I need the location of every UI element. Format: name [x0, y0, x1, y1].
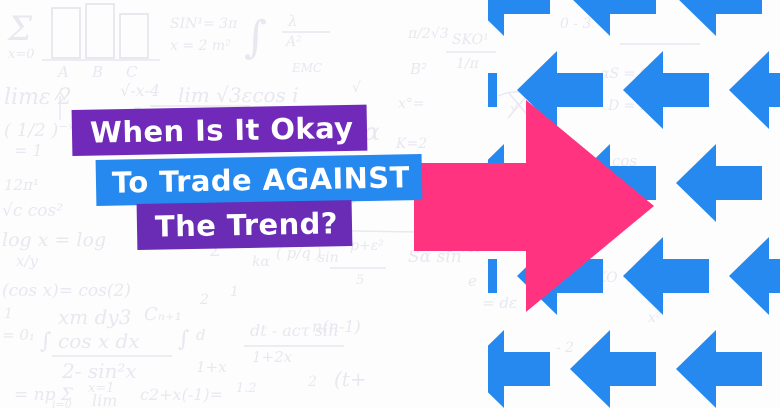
svg-text:1: 1: [230, 284, 239, 300]
svg-text:c2+x(-1)=: c2+x(-1)=: [140, 385, 223, 404]
svg-text:B²: B²: [409, 60, 427, 78]
blue-arrow-left: [488, 0, 550, 36]
svg-text:SKO¹: SKO¹: [452, 32, 489, 48]
svg-text:π/2√3: π/2√3: [407, 26, 449, 42]
svg-text:d: d: [196, 326, 206, 344]
svg-text:∫: ∫: [244, 12, 267, 63]
pink-arrow-right: [414, 100, 654, 312]
svg-text:12π¹: 12π¹: [4, 176, 39, 194]
svg-text:lim √3εcos i: lim √3εcos i: [178, 83, 299, 107]
blue-arrow-left: [676, 144, 762, 222]
svg-text:xm dy3: xm dy3: [58, 305, 131, 329]
blue-arrow-left: [729, 237, 780, 315]
svg-text:= 1: = 1: [14, 141, 43, 160]
blue-arrow-left: [570, 330, 656, 408]
svg-text:√: √: [352, 80, 361, 96]
blue-arrow-left: [729, 51, 780, 129]
svg-text:sin: sin: [318, 250, 339, 266]
svg-text:1: 1: [4, 306, 13, 322]
headline-line-3: The Trend?: [137, 200, 353, 250]
svg-text:1+2x: 1+2x: [252, 348, 293, 366]
svg-text:i=0: i=0: [52, 398, 72, 408]
svg-text:x = 2 m²: x = 2 m²: [170, 38, 231, 54]
svg-text:√-x-4: √-x-4: [120, 81, 160, 100]
headline-line-2: To Trade AGAINST: [96, 154, 423, 206]
svg-text:Σ: Σ: [6, 9, 33, 49]
svg-text:λ: λ: [287, 12, 298, 30]
svg-text:cos x dx: cos x dx: [58, 329, 140, 353]
svg-text:2: 2: [199, 292, 209, 308]
svg-text:EMC: EMC: [291, 61, 322, 75]
blue-arrow-left: [570, 0, 656, 36]
svg-text:x=1: x=1: [88, 381, 115, 396]
svg-text:log x = log: log x = log: [2, 229, 106, 251]
svg-text:Cₙ₊₁: Cₙ₊₁: [144, 304, 182, 325]
svg-text:= np Σ: = np Σ: [14, 385, 74, 405]
blue-arrow-left: [488, 330, 550, 408]
svg-text:= 0₁: = 0₁: [2, 326, 35, 344]
svg-text:1.2: 1.2: [236, 381, 257, 396]
svg-text:A²: A²: [284, 34, 302, 50]
headline-line-1-text: When Is It Okay: [90, 111, 354, 150]
blue-arrow-left: [676, 330, 762, 408]
svg-text:∫: ∫: [178, 327, 190, 352]
headline-line-3-text: The Trend?: [155, 206, 339, 243]
svg-text:dt - acτ sin: dt - acτ sin: [250, 321, 338, 340]
svg-text:(t+: (t+: [334, 367, 367, 391]
headline-line-1: When Is It Okay: [72, 105, 368, 156]
svg-text:2: 2: [307, 374, 317, 390]
svg-text:n(n-1): n(n-1): [312, 317, 361, 336]
svg-text:x=0: x=0: [8, 47, 35, 62]
blue-arrow-left: [676, 0, 762, 36]
svg-text:limε 2: limε 2: [4, 85, 72, 110]
svg-text:5: 5: [356, 273, 364, 288]
svg-text:x/y: x/y: [16, 252, 39, 270]
headline-line-2-text: To Trade AGAINST: [112, 160, 410, 199]
svg-text:kα: kα: [252, 254, 270, 270]
svg-text:1/π: 1/π: [456, 56, 480, 72]
svg-text:2- sin²x: 2- sin²x: [61, 359, 137, 383]
graphic-canvas: Σ x=0 A B C SIN¹= 3π x = 2 m² ∫ λ A² EMC…: [0, 0, 780, 408]
svg-text:√c cos²: √c cos²: [2, 201, 63, 221]
svg-text:B: B: [91, 63, 103, 81]
svg-text:∫: ∫: [40, 329, 52, 354]
svg-text:1+x: 1+x: [196, 358, 227, 376]
svg-text:SIN¹= 3π: SIN¹= 3π: [170, 16, 238, 32]
svg-text:p+ε²: p+ε²: [350, 238, 384, 254]
svg-text:C: C: [126, 63, 138, 81]
svg-text:( 1/2 )⁻ˣ: ( 1/2 )⁻ˣ: [4, 120, 75, 141]
svg-text:(cos x)= cos(2): (cos x)= cos(2): [2, 281, 131, 301]
svg-text:A: A: [56, 63, 69, 81]
svg-text:lim: lim: [92, 391, 117, 408]
